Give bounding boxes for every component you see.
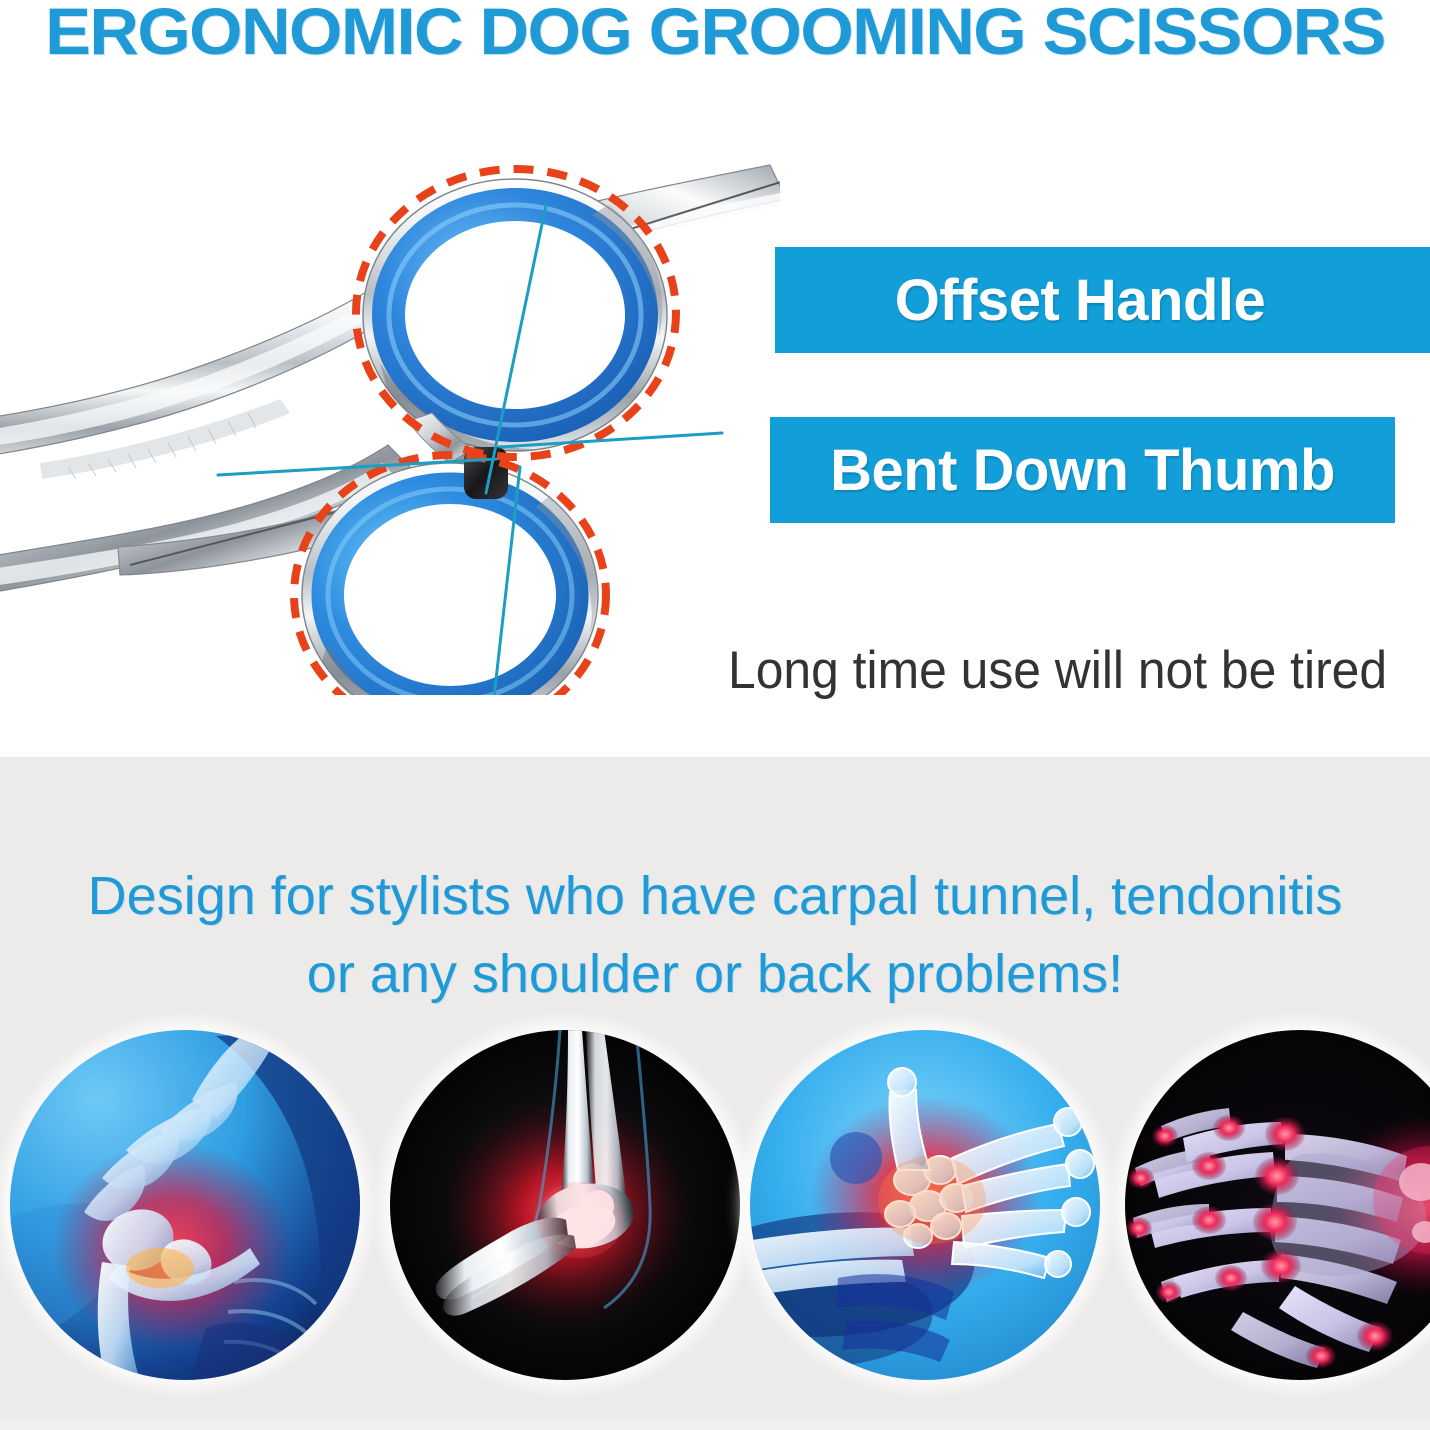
bottom-section: Design for stylists who have carpal tunn… [0, 757, 1430, 1430]
callout-offset-handle: Offset Handle [775, 247, 1430, 353]
condition-photo-row [0, 1030, 1430, 1390]
scissors-product-photo [0, 95, 780, 695]
callout-bent-down-thumb-label: Bent Down Thumb [830, 437, 1335, 504]
top-section: ERGONOMIC DOG GROOMING SCISSORS [0, 0, 1430, 757]
benefit-statement: Design for stylists who have carpal tunn… [0, 857, 1430, 1013]
condition-photo-elbow [390, 1030, 740, 1380]
condition-photo-hand [1125, 1030, 1430, 1380]
tagline: Long time use will not be tired [728, 640, 1430, 702]
benefit-line-2: or any shoulder or back problems! [0, 935, 1430, 1013]
product-infographic: ERGONOMIC DOG GROOMING SCISSORS [0, 0, 1430, 1430]
callout-bent-down-thumb: Bent Down Thumb [770, 417, 1395, 523]
callout-offset-handle-label: Offset Handle [895, 267, 1266, 334]
page-title: ERGONOMIC DOG GROOMING SCISSORS [0, 0, 1430, 66]
condition-photo-wrist [750, 1030, 1100, 1380]
benefit-line-1: Design for stylists who have carpal tunn… [0, 857, 1430, 935]
condition-photo-shoulder [10, 1030, 360, 1380]
